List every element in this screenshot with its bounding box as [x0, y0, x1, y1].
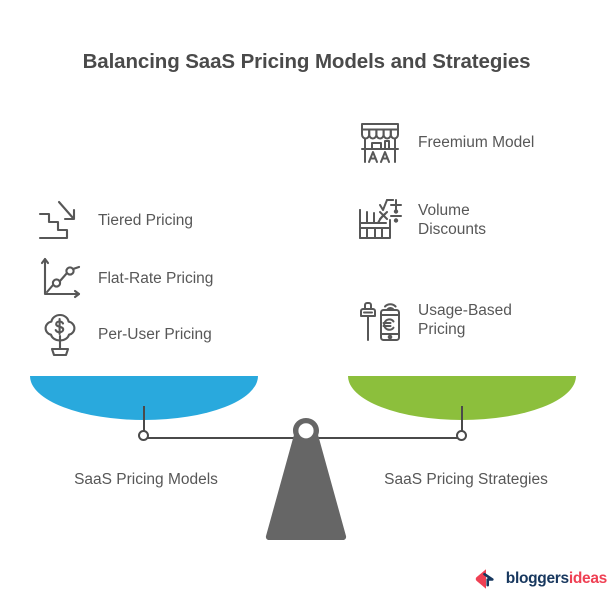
list-item-flat-rate-pricing: Flat-Rate Pricing	[36, 254, 213, 302]
list-item-per-user-pricing: Per-User Pricing	[36, 310, 212, 358]
payment-terminal-phone-euro-icon	[356, 296, 404, 344]
balance-scale	[0, 360, 613, 550]
caption-right: SaaS Pricing Strategies	[334, 471, 598, 489]
line-chart-axis-icon	[36, 254, 84, 302]
descending-stairs-arrow-icon	[36, 196, 84, 244]
list-item-freemium-model: Freemium Model	[356, 118, 534, 166]
logo-word-bloggers: bloggers	[506, 570, 569, 587]
scale-pivot-left	[138, 430, 149, 441]
scale-pivot-right	[456, 430, 467, 441]
list-item-label: Per-User Pricing	[98, 325, 212, 344]
bloggersideas-arrow-mark	[475, 568, 501, 590]
list-item-volume-discounts: Volume Discounts	[356, 196, 486, 244]
logo-wordmark: bloggersideas	[506, 570, 607, 588]
list-item-label: Tiered Pricing	[98, 211, 193, 230]
market-stall-icon	[356, 118, 404, 166]
list-item-label: Usage-Based Pricing	[418, 301, 512, 339]
list-item-usage-based-pricing: Usage-Based Pricing	[356, 296, 512, 344]
list-item-label: Volume Discounts	[418, 201, 486, 239]
money-tree-dollar-icon	[36, 310, 84, 358]
list-item-label: Freemium Model	[418, 133, 534, 152]
page-title: Balancing SaaS Pricing Models and Strate…	[0, 50, 613, 74]
bloggersideas-logo[interactable]: bloggersideas	[475, 568, 607, 590]
shelf-math-symbols-icon	[356, 196, 404, 244]
caption-left: SaaS Pricing Models	[14, 471, 278, 489]
logo-word-ideas: ideas	[569, 570, 607, 587]
list-item-tiered-pricing: Tiered Pricing	[36, 196, 193, 244]
list-item-label: Flat-Rate Pricing	[98, 269, 213, 288]
